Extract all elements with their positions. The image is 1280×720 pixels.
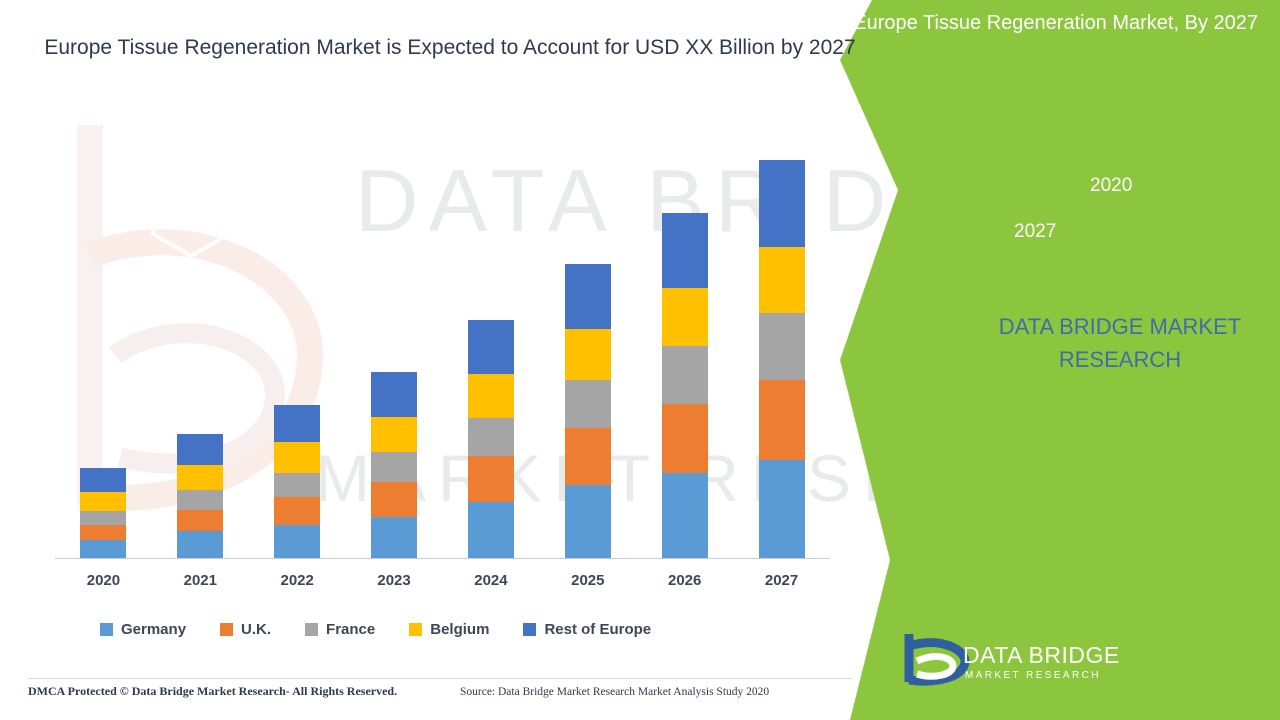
x-axis-line xyxy=(55,558,830,559)
bar-segment[interactable] xyxy=(80,468,126,492)
bar-group[interactable] xyxy=(371,372,417,558)
legend-swatch-icon xyxy=(220,623,233,636)
source-note: Source: Data Bridge Market Research Mark… xyxy=(460,686,769,698)
bar-segment[interactable] xyxy=(662,346,708,403)
bar-segment[interactable] xyxy=(371,372,417,417)
bar-segment[interactable] xyxy=(371,417,417,453)
logo-text-main: DATA BRIDGE xyxy=(963,642,1120,669)
bar-segment[interactable] xyxy=(274,473,320,497)
bar-segment[interactable] xyxy=(468,418,514,456)
bar-segment[interactable] xyxy=(759,460,805,558)
bar-segment[interactable] xyxy=(80,492,126,511)
chart-plot-area xyxy=(55,150,830,558)
legend-item[interactable]: Rest of Europe xyxy=(523,621,651,638)
legend-label: U.K. xyxy=(241,621,271,638)
bar-segment[interactable] xyxy=(177,465,223,491)
x-axis-tick-2021: 2021 xyxy=(160,572,240,589)
bar-segment[interactable] xyxy=(759,380,805,460)
dmca-notice: DMCA Protected © Data Bridge Market Rese… xyxy=(28,684,397,699)
legend-swatch-icon xyxy=(305,623,318,636)
legend-item[interactable]: Germany xyxy=(100,621,186,638)
bar-group[interactable] xyxy=(662,213,708,559)
bar-segment[interactable] xyxy=(177,510,223,532)
bar-segment[interactable] xyxy=(662,213,708,288)
bar-segment[interactable] xyxy=(759,313,805,379)
bar-segment[interactable] xyxy=(177,434,223,465)
bar-group[interactable] xyxy=(565,264,611,559)
bar-segment[interactable] xyxy=(274,405,320,442)
logo-text-sub: MARKET RESEARCH xyxy=(965,670,1101,681)
legend-label: France xyxy=(326,621,375,638)
x-axis-tick-2027: 2027 xyxy=(742,572,822,589)
bar-segment[interactable] xyxy=(565,329,611,380)
x-axis-tick-2022: 2022 xyxy=(257,572,337,589)
x-axis-tick-2023: 2023 xyxy=(354,572,434,589)
bar-segment[interactable] xyxy=(468,374,514,417)
x-axis-labels: 20202021202220232024202520262027 xyxy=(55,572,830,598)
x-axis-tick-2024: 2024 xyxy=(451,572,531,589)
bar-segment[interactable] xyxy=(759,247,805,313)
bar-segment[interactable] xyxy=(274,497,320,525)
bar-segment[interactable] xyxy=(565,485,611,558)
hex-label-2020: 2020 xyxy=(1090,175,1132,197)
bar-group[interactable] xyxy=(177,434,223,558)
legend-item[interactable]: Belgium xyxy=(409,621,489,638)
legend-label: Germany xyxy=(121,621,186,638)
bar-segment[interactable] xyxy=(662,288,708,347)
legend-item[interactable]: France xyxy=(305,621,375,638)
bar-segment[interactable] xyxy=(662,473,708,558)
legend-label: Belgium xyxy=(430,621,489,638)
bar-segment[interactable] xyxy=(565,428,611,485)
bar-segment[interactable] xyxy=(177,531,223,558)
page-title: Europe Tissue Regeneration Market is Exp… xyxy=(40,32,860,65)
chart-page: DATA BRIDGE MARKET RESEARCH Europe Tissu… xyxy=(0,0,1280,720)
bar-segment[interactable] xyxy=(80,525,126,540)
bar-segment[interactable] xyxy=(274,525,320,558)
bar-segment[interactable] xyxy=(177,490,223,509)
chart-legend: GermanyU.K.FranceBelgiumRest of Europe xyxy=(100,616,800,642)
panel-title: Europe Tissue Regeneration Market, By 20… xyxy=(838,8,1258,38)
legend-swatch-icon xyxy=(409,623,422,636)
footer-divider xyxy=(28,678,852,679)
x-axis-tick-2025: 2025 xyxy=(548,572,628,589)
bar-segment[interactable] xyxy=(565,264,611,329)
legend-label: Rest of Europe xyxy=(544,621,651,638)
bar-group[interactable] xyxy=(80,468,126,559)
brand-name: DATA BRIDGE MARKET RESEARCH xyxy=(955,310,1280,376)
bar-group[interactable] xyxy=(468,320,514,558)
bar-segment[interactable] xyxy=(80,540,126,558)
bar-segment[interactable] xyxy=(371,517,417,558)
bar-segment[interactable] xyxy=(759,160,805,247)
bar-segment[interactable] xyxy=(371,482,417,518)
bar-segment[interactable] xyxy=(565,380,611,428)
bar-segment[interactable] xyxy=(274,442,320,473)
x-axis-tick-2020: 2020 xyxy=(63,572,143,589)
bar-segment[interactable] xyxy=(468,502,514,558)
legend-item[interactable]: U.K. xyxy=(220,621,271,638)
bar-segment[interactable] xyxy=(80,511,126,525)
bar-segment[interactable] xyxy=(371,452,417,481)
hex-label-2027: 2027 xyxy=(1014,221,1056,243)
x-axis-tick-2026: 2026 xyxy=(645,572,725,589)
legend-swatch-icon xyxy=(100,623,113,636)
bar-group[interactable] xyxy=(274,405,320,558)
legend-swatch-icon xyxy=(523,623,536,636)
bar-segment[interactable] xyxy=(662,404,708,473)
bar-segment[interactable] xyxy=(468,320,514,375)
bar-segment[interactable] xyxy=(468,456,514,502)
bar-group[interactable] xyxy=(759,160,805,558)
